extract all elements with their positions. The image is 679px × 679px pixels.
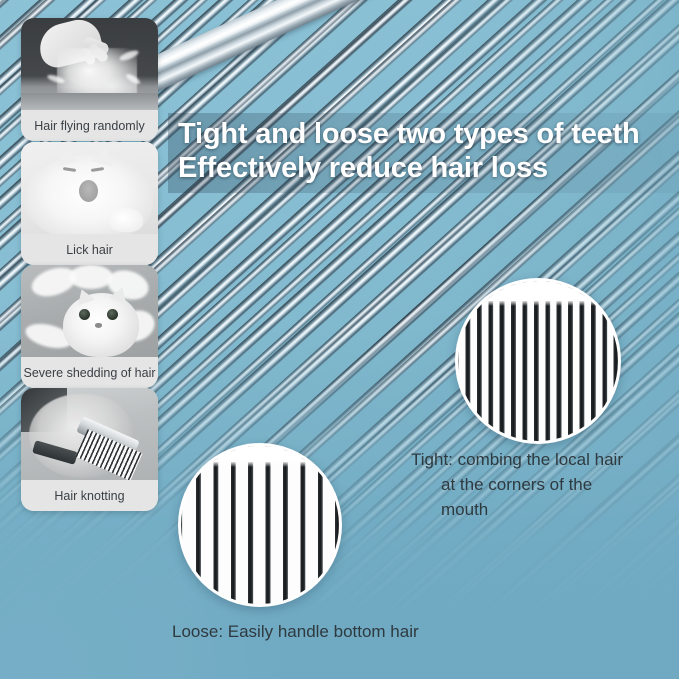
caption-tight-line-2: at the corners of the — [411, 472, 673, 497]
thumbnail-card-lick-hair: Lick hair — [21, 142, 158, 265]
product-poster: Tight and loose two types of teeth Effec… — [0, 0, 679, 679]
headline-line-2: Effectively reduce hair loss — [178, 151, 678, 185]
teeth-tip-highlight — [181, 462, 339, 467]
floor-shape — [21, 93, 158, 111]
cat-paw-shape — [109, 208, 143, 232]
thumbnail-card-hair-flying: Hair flying randomly — [21, 18, 158, 141]
caption-tight-line-3: mouth — [411, 497, 673, 522]
loose-teeth-closeup — [181, 446, 339, 604]
caption-tight-line-1: Tight: combing the local hair — [411, 450, 623, 469]
thumbnail-card-hair-knotting: Hair knotting — [21, 388, 158, 511]
page-title: Tight and loose two types of teeth Effec… — [178, 117, 678, 185]
thumbnail-caption: Lick hair — [21, 234, 158, 265]
cat-eye-shape — [79, 309, 90, 320]
fur-tuft-shape — [69, 265, 113, 289]
shedding-cat-photo — [21, 265, 158, 358]
teeth-top-mask — [458, 281, 618, 301]
white-cat-licking-photo — [21, 142, 158, 235]
thumbnail-card-severe-shedding: Severe shedding of hair — [21, 265, 158, 388]
callout-circle-loose — [178, 443, 342, 607]
thumbnail-caption: Hair flying randomly — [21, 110, 158, 141]
teeth-top-mask — [181, 446, 339, 462]
caption-loose-line-1: Loose: Easily handle bottom hair — [172, 622, 419, 641]
cat-mouth-shape — [79, 180, 98, 202]
comb-in-matted-fur-photo — [21, 388, 158, 481]
callout-caption-tight: Tight: combing the local hair at the cor… — [411, 447, 673, 522]
cat-eye-shape — [107, 309, 118, 320]
thumbnail-caption: Hair knotting — [21, 480, 158, 511]
callout-caption-loose: Loose: Easily handle bottom hair — [172, 619, 512, 644]
cat-nose-shape — [95, 323, 102, 328]
hand-dropping-fur-photo — [21, 18, 158, 111]
thumbnail-caption: Severe shedding of hair — [21, 357, 158, 388]
headline-line-1: Tight and loose two types of teeth — [178, 118, 640, 150]
teeth-tip-highlight — [458, 301, 618, 306]
callout-circle-tight — [455, 278, 621, 444]
